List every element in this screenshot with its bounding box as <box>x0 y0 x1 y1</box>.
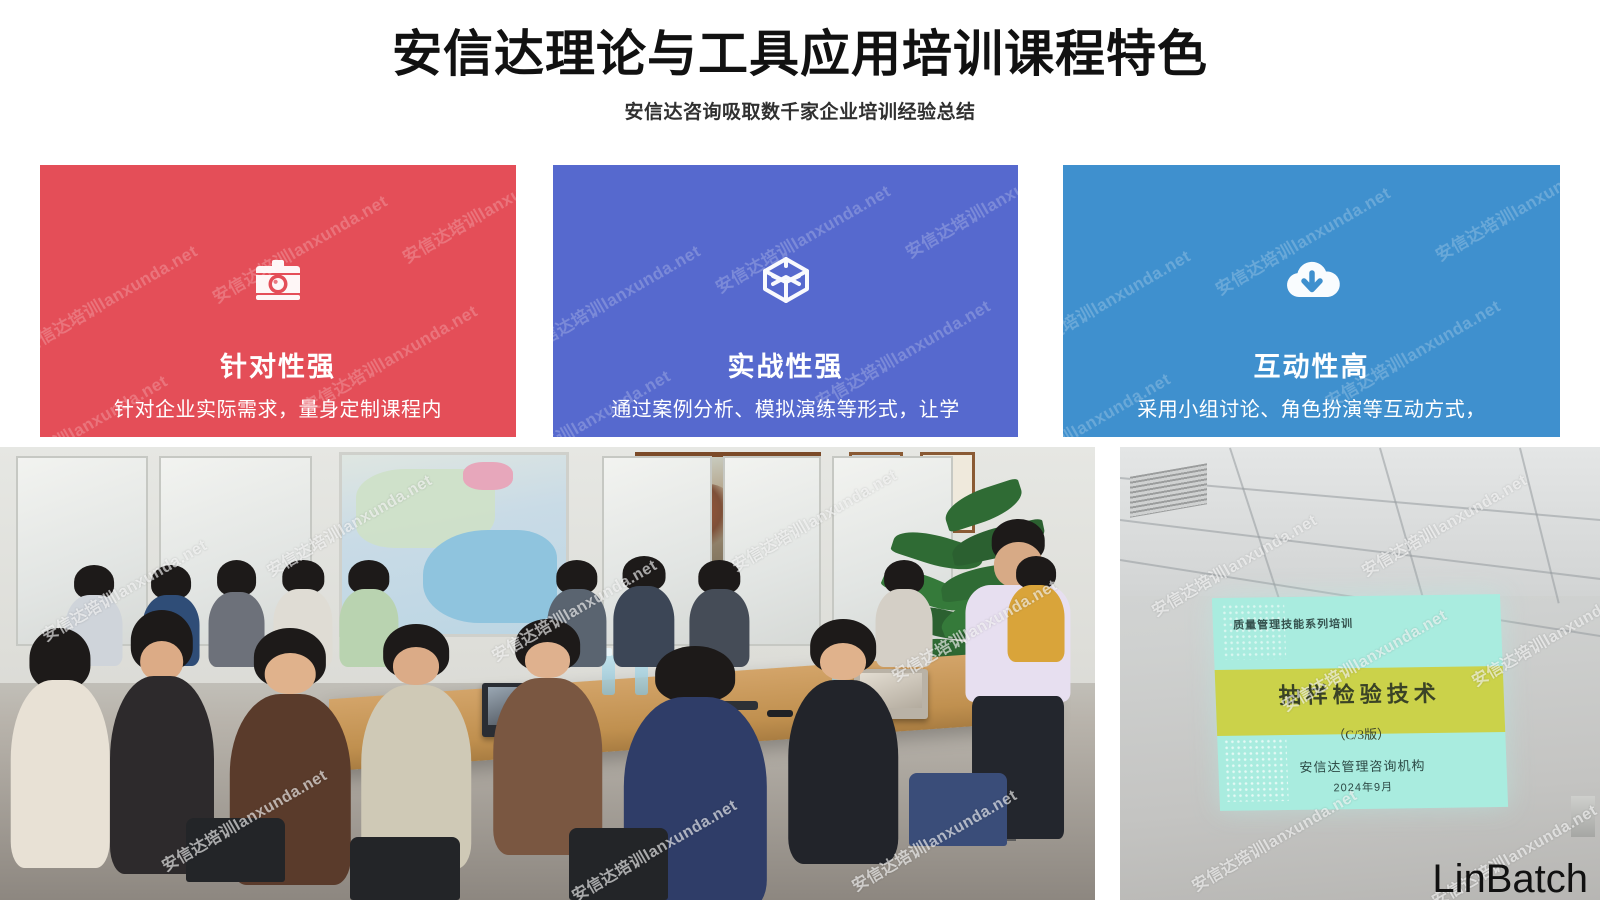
chair <box>186 818 285 881</box>
cloud-download-icon <box>1063 245 1560 315</box>
chair <box>909 773 1008 845</box>
slide-date: 2024年9月 <box>1219 778 1508 798</box>
feature-card-title: 互动性高 <box>1063 350 1560 384</box>
feature-card-description: 通过案例分析、模拟演练等形式，让学 <box>553 395 1018 425</box>
attendee <box>11 628 110 864</box>
page-root: 安信达理论与工具应用培训课程特色 安信达咨询吸取数千家企业培训经验总结 针对性强… <box>0 0 1600 900</box>
feature-card-title: 针对性强 <box>40 350 516 384</box>
cube-box-icon <box>553 245 1018 315</box>
attendee <box>361 624 471 860</box>
slide-version: （C/3版） <box>1217 722 1506 745</box>
feature-card-practical[interactable]: 实战性强 通过案例分析、模拟演练等形式，让学 安信达培训lanxunda.net… <box>553 165 1018 437</box>
slide-title: 抽样检验技术 <box>1215 675 1504 711</box>
page-subtitle: 安信达咨询吸取数千家企业培训经验总结 <box>0 100 1600 126</box>
attendee <box>493 619 603 846</box>
training-classroom-photo: 安信达培训lanxunda.net 安信达培训lanxunda.net 安信达培… <box>0 447 1095 900</box>
slide-organization: 安信达管理咨询机构 <box>1218 754 1507 777</box>
chair <box>350 837 460 900</box>
page-title: 安信达理论与工具应用培训课程特色 <box>0 22 1600 86</box>
photo-row: 安信达培训lanxunda.net 安信达培训lanxunda.net 安信达培… <box>0 447 1600 900</box>
page-header: 安信达理论与工具应用培训课程特色 安信达咨询吸取数千家企业培训经验总结 <box>0 0 1600 150</box>
feature-cards-row: 针对性强 针对企业实际需求，量身定制课程内 安信达培训lanxunda.net … <box>0 165 1600 437</box>
classroom-scene <box>0 447 1095 900</box>
slide-series-label: 质量管理技能系列培训 <box>1233 616 1354 634</box>
chair <box>569 828 668 900</box>
feature-card-title: 实战性强 <box>553 350 1018 384</box>
projected-slide-photo: 质量管理技能系列培训 抽样检验技术 （C/3版） 安信达管理咨询机构 2024年… <box>1120 447 1600 900</box>
projected-slide: 质量管理技能系列培训 抽样检验技术 （C/3版） 安信达管理咨询机构 2024年… <box>1212 595 1508 812</box>
attendee <box>788 619 898 855</box>
feature-card-interactive[interactable]: 互动性高 采用小组讨论、角色扮演等互动方式， 安信达培训lanxunda.net… <box>1063 165 1560 437</box>
wall-fixture <box>1571 796 1595 837</box>
feature-card-description: 采用小组讨论、角色扮演等互动方式， <box>1063 395 1560 425</box>
feature-card-description: 针对企业实际需求，量身定制课程内 <box>40 395 516 425</box>
map-water-area <box>423 530 557 623</box>
camera-icon <box>40 245 516 315</box>
map-highlight-area <box>463 462 512 491</box>
feature-card-targeted[interactable]: 针对性强 针对企业实际需求，量身定制课程内 安信达培训lanxunda.net … <box>40 165 516 437</box>
projection-room-scene: 质量管理技能系列培训 抽样检验技术 （C/3版） 安信达管理咨询机构 2024年… <box>1120 447 1600 900</box>
linbatch-brand-watermark: LinBatch <box>1432 857 1588 900</box>
attendee <box>1007 556 1064 660</box>
